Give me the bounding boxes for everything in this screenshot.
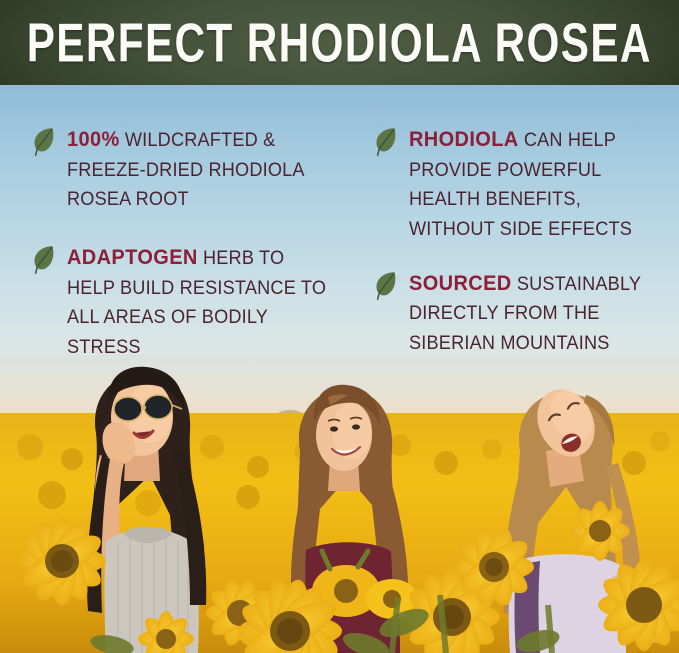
- benefit-lead: SOURCED: [409, 271, 512, 295]
- lifestyle-photo: [0, 355, 679, 653]
- leaf-icon: [372, 269, 400, 301]
- benefit-text: ADAPTOGEN HERB TO HELP BUILD RESISTANCE …: [67, 241, 335, 363]
- benefit-lead: 100%: [67, 127, 120, 151]
- benefit-lead: ADAPTOGEN: [67, 245, 198, 269]
- benefit-lead: RHODIOLA: [409, 127, 519, 151]
- benefit-item: 100% WILDCRAFTED & FREEZE-DRIED RHODIOLA…: [30, 123, 356, 215]
- leaf-icon: [372, 125, 400, 157]
- benefit-text: SOURCED SUSTAINABLY DIRECTLY FROM THE SI…: [409, 267, 647, 359]
- benefit-item: SOURCED SUSTAINABLY DIRECTLY FROM THE SI…: [372, 267, 665, 359]
- header-banner: PERFECT RHODIOLA ROSEA: [0, 0, 679, 85]
- leaf-icon: [30, 243, 58, 275]
- page-title: PERFECT RHODIOLA ROSEA: [27, 15, 652, 70]
- photo-illustration: [0, 355, 679, 653]
- benefit-text: RHODIOLA CAN HELP PROVIDE POWERFUL HEALT…: [409, 123, 647, 245]
- leaf-icon: [30, 125, 58, 157]
- product-infographic: PERFECT RHODIOLA ROSEA 100% WILDCRAFTED …: [0, 0, 679, 653]
- benefit-item: ADAPTOGEN HERB TO HELP BUILD RESISTANCE …: [30, 241, 356, 363]
- benefit-text: 100% WILDCRAFTED & FREEZE-DRIED RHODIOLA…: [67, 123, 335, 215]
- benefit-item: RHODIOLA CAN HELP PROVIDE POWERFUL HEALT…: [372, 123, 665, 245]
